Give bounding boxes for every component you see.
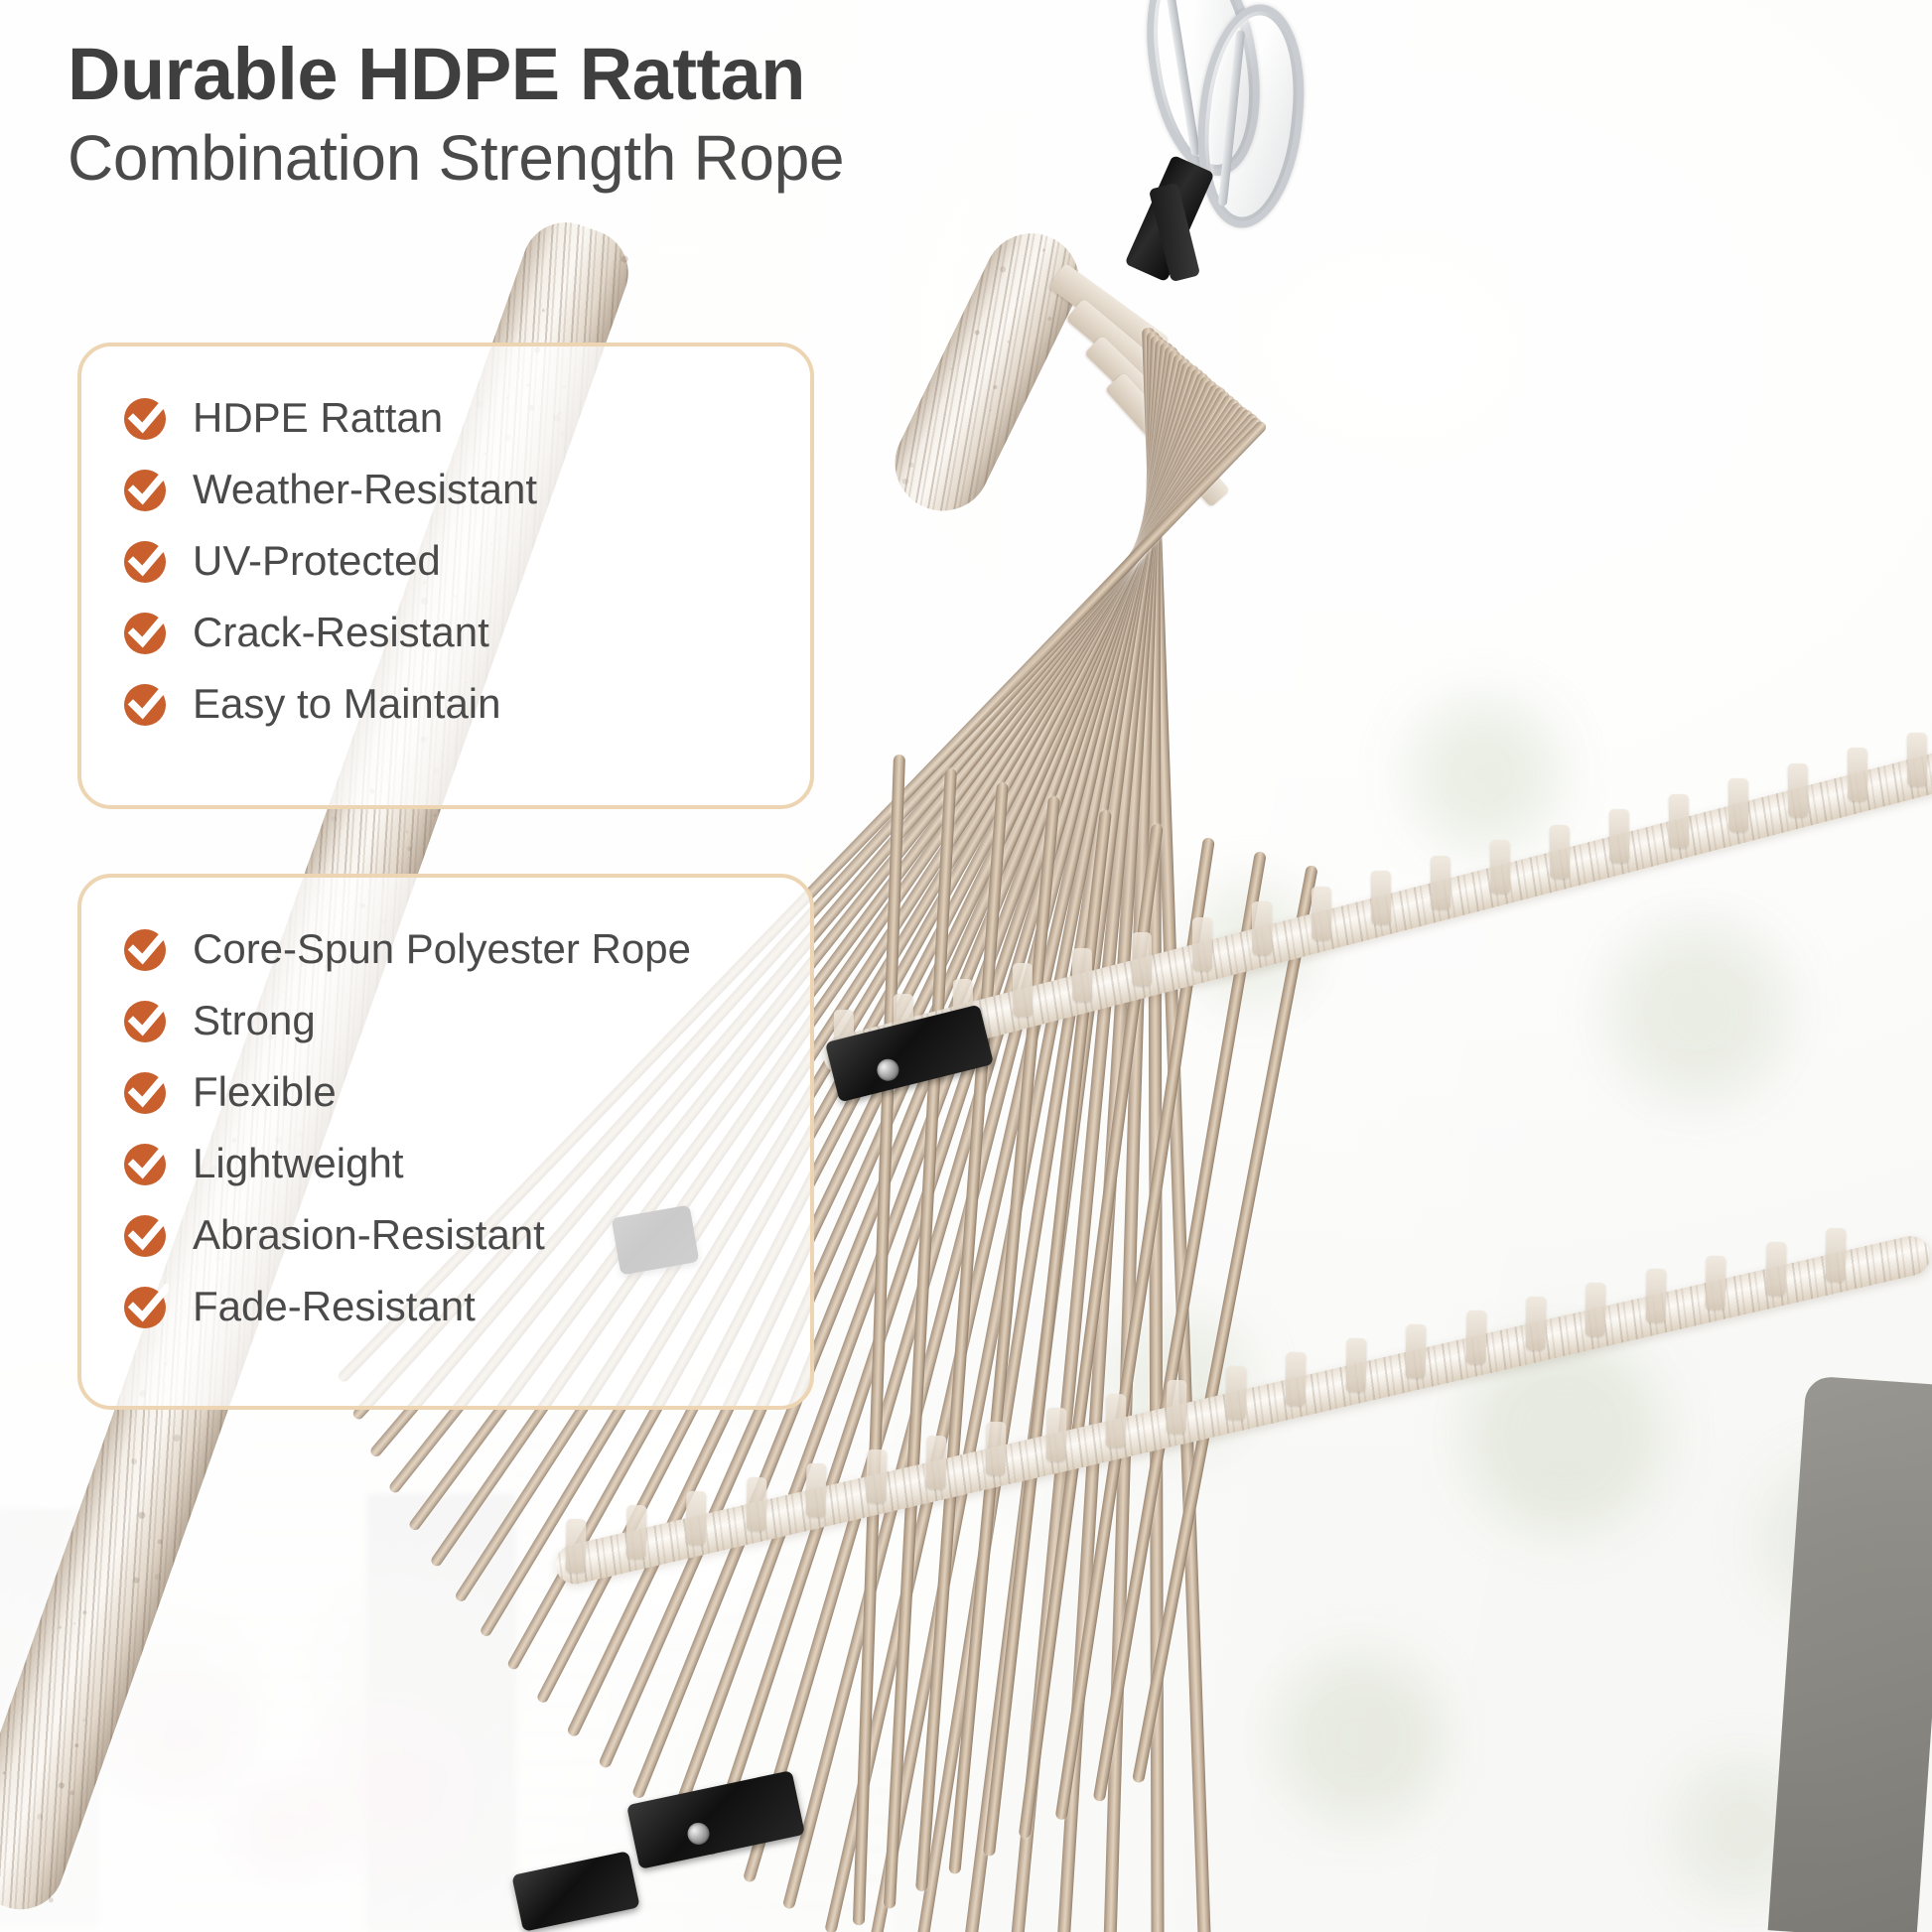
feature-label: Abrasion-Resistant xyxy=(193,1214,545,1256)
bracket-screw xyxy=(685,1821,711,1847)
rail-weave-band xyxy=(1106,1394,1127,1448)
rattan-speck xyxy=(950,367,953,370)
rail-weave-band xyxy=(1549,825,1569,879)
check-circle-icon xyxy=(123,538,169,584)
feature-item: UV-Protected xyxy=(123,535,770,587)
rail-weave-band xyxy=(806,1463,827,1517)
rattan-speck xyxy=(331,815,337,821)
rail-weave-band xyxy=(1706,1255,1726,1309)
rail-weave-band xyxy=(1668,794,1688,848)
rail-weave-band xyxy=(1907,732,1927,785)
rail-weave-band xyxy=(1251,901,1271,955)
rail-weave-band xyxy=(1370,871,1390,924)
rattan-speck xyxy=(172,1434,181,1443)
rail-weave-band xyxy=(1465,1311,1486,1364)
feature-label: UV-Protected xyxy=(193,540,441,582)
rattan-speck xyxy=(157,1539,163,1545)
rattan-speck xyxy=(621,255,629,264)
rail-weave-band xyxy=(686,1490,707,1544)
rattan-speck xyxy=(48,1897,55,1904)
rail-weave-band xyxy=(746,1476,766,1530)
rail-weave-band xyxy=(1311,887,1330,940)
page-subtitle: Combination Strength Rope xyxy=(68,125,1120,192)
bracket-screw xyxy=(875,1056,901,1083)
rattan-speck xyxy=(3,1771,6,1774)
feature-label: Core-Spun Polyester Rope xyxy=(193,928,691,970)
rail-weave-band xyxy=(1765,1241,1786,1295)
feature-item: Strong xyxy=(123,995,770,1046)
headline-block: Durable HDPE Rattan Combination Strength… xyxy=(68,38,1120,192)
feature-item: Lightweight xyxy=(123,1138,770,1189)
feature-label: Strong xyxy=(193,1000,316,1041)
rail-weave-band xyxy=(1788,763,1808,817)
rattan-speck xyxy=(82,1719,86,1723)
rail-weave-band xyxy=(1430,856,1449,909)
rail-weave-band xyxy=(1226,1366,1247,1420)
feature-item: Flexible xyxy=(123,1066,770,1118)
rattan-speck xyxy=(974,330,981,337)
rail-weave-band xyxy=(1645,1269,1666,1322)
rattan-speck xyxy=(59,1625,63,1629)
rattan-speck xyxy=(989,409,992,412)
rattan-speck xyxy=(69,1790,74,1796)
feature-item: Weather-Resistant xyxy=(123,464,770,515)
feature-card-rope: Core-Spun Polyester RopeStrongFlexibleLi… xyxy=(77,874,814,1410)
rattan-speck xyxy=(406,846,412,852)
rail-weave-band xyxy=(986,1422,1007,1475)
feature-item: Core-Spun Polyester Rope xyxy=(123,923,770,975)
rail-weave-band xyxy=(1072,948,1092,1002)
check-circle-icon xyxy=(123,467,169,512)
product-feature-graphic: Durable HDPE Rattan Combination Strength… xyxy=(0,0,1932,1932)
rattan-speck xyxy=(433,813,437,817)
rail-weave-band xyxy=(1489,840,1509,894)
rail-weave-band xyxy=(566,1518,587,1572)
rail-weave-band xyxy=(1406,1324,1427,1378)
rail-weave-band xyxy=(1727,778,1747,832)
wrapped-rattan-post-top xyxy=(879,217,1095,527)
check-circle-icon xyxy=(123,1284,169,1329)
rail-weave-band xyxy=(925,1436,946,1489)
check-circle-icon xyxy=(123,926,169,972)
rattan-speck xyxy=(405,830,409,834)
feature-label: HDPE Rattan xyxy=(193,397,443,439)
feature-label: Flexible xyxy=(193,1071,337,1113)
feature-item: Fade-Resistant xyxy=(123,1281,770,1332)
feature-label: Crack-Resistant xyxy=(193,612,489,653)
rail-weave-band xyxy=(1132,932,1152,986)
feature-card-hdpe-rattan: HDPE RattanWeather-ResistantUV-Protected… xyxy=(77,343,814,809)
feature-label: Lightweight xyxy=(193,1143,403,1184)
rail-weave-band xyxy=(1826,1227,1847,1281)
rail-weave-band xyxy=(1166,1380,1186,1434)
rail-weave-band xyxy=(1586,1283,1606,1336)
feature-item: HDPE Rattan xyxy=(123,392,770,444)
rattan-speck xyxy=(1042,248,1045,251)
rattan-speck xyxy=(82,1610,87,1615)
rattan-speck xyxy=(154,1574,162,1582)
rattan-speck xyxy=(901,478,909,485)
black-metal-bracket xyxy=(511,1851,639,1932)
check-circle-icon xyxy=(123,395,169,441)
rattan-speck xyxy=(1007,341,1010,344)
rail-weave-band xyxy=(1286,1352,1307,1406)
rattan-speck xyxy=(541,309,545,313)
check-circle-icon xyxy=(123,1212,169,1258)
check-circle-icon xyxy=(123,1141,169,1186)
rail-weave-band xyxy=(1045,1408,1066,1461)
rattan-speck xyxy=(73,1622,76,1625)
rattan-speck xyxy=(996,427,999,430)
check-circle-icon xyxy=(123,610,169,655)
check-circle-icon xyxy=(123,681,169,727)
rail-weave-band xyxy=(1848,748,1867,801)
feature-label: Fade-Resistant xyxy=(193,1286,476,1327)
feature-item: Crack-Resistant xyxy=(123,607,770,658)
rattan-speck xyxy=(138,1511,146,1519)
rattan-speck xyxy=(993,384,998,389)
rail-weave-band xyxy=(1526,1297,1547,1350)
rattan-speck xyxy=(1047,316,1052,321)
feature-label: Weather-Resistant xyxy=(193,469,537,510)
rattan-speck xyxy=(999,265,1007,273)
rattan-speck xyxy=(133,1577,140,1584)
rattan-speck xyxy=(908,462,914,468)
rail-weave-band xyxy=(1345,1338,1366,1392)
page-title: Durable HDPE Rattan xyxy=(68,38,1120,111)
rail-weave-band xyxy=(1191,917,1211,971)
feature-item: Abrasion-Resistant xyxy=(123,1209,770,1261)
rail-weave-band xyxy=(866,1449,887,1503)
rail-weave-band xyxy=(1013,963,1033,1017)
rattan-speck xyxy=(130,1457,138,1465)
check-circle-icon xyxy=(123,998,169,1043)
rail-weave-band xyxy=(1608,809,1628,863)
check-circle-icon xyxy=(123,1069,169,1115)
rattan-speck xyxy=(58,1782,65,1789)
feature-item: Easy to Maintain xyxy=(123,678,770,730)
rattan-speck xyxy=(36,1813,44,1821)
rattan-speck xyxy=(74,1743,79,1748)
feature-label: Easy to Maintain xyxy=(193,683,501,725)
seat-cushion xyxy=(1768,1375,1932,1932)
rail-weave-band xyxy=(625,1504,646,1558)
black-metal-bracket xyxy=(626,1770,805,1869)
